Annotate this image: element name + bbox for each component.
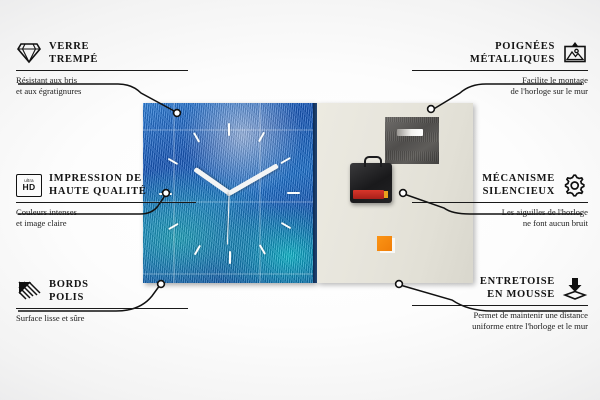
- battery: [353, 190, 384, 199]
- foam-spacer-icon: [562, 275, 588, 301]
- ultra-hd-icon: ultra HD: [16, 172, 42, 198]
- feature-title: BORDS POLIS: [49, 278, 89, 304]
- polished-edges-icon: [16, 278, 42, 304]
- picture-hanger-icon: [562, 40, 588, 66]
- feature-heading-row: ultra HD IMPRESSION DE HAUTE QUALITÉ: [16, 172, 196, 198]
- clock-hand: [226, 193, 229, 245]
- feature-desc: Résistant aux bris et aux égratignures: [16, 75, 188, 96]
- feature-title: IMPRESSION DE HAUTE QUALITÉ: [49, 172, 147, 198]
- feature-verre-trempe: VERRE TREMPÉ Résistant aux bris et aux é…: [16, 40, 188, 96]
- feature-poignees-metalliques: POIGNÉES MÉTALLIQUES Facilite le montage…: [412, 40, 588, 96]
- feature-desc: Surface lisse et sûre: [16, 313, 188, 324]
- mechanism-hook: [364, 156, 382, 167]
- feature-title: POIGNÉES MÉTALLIQUES: [470, 40, 555, 66]
- gear-icon: [562, 172, 588, 198]
- feature-heading-row: BORDS POLIS: [16, 278, 188, 304]
- feature-entretoise-mousse: ENTRETOISE EN MOUSSE Permet de maintenir…: [412, 275, 588, 331]
- clock-hand: [193, 167, 230, 195]
- feature-title: ENTRETOISE EN MOUSSE: [480, 275, 555, 301]
- clock-hand: [228, 163, 279, 195]
- divider: [16, 70, 188, 71]
- feature-desc: Permet de maintenir une distance uniform…: [412, 310, 588, 331]
- feature-bords-polis: BORDS POLIS Surface lisse et sûre: [16, 278, 188, 324]
- divider: [16, 202, 196, 203]
- foam-spacer: [377, 236, 392, 251]
- divider: [412, 70, 588, 71]
- divider: [412, 305, 588, 306]
- diamond-icon: [16, 40, 42, 66]
- feature-mecanisme-silencieux: MÉCANISME SILENCIEUX Les aiguilles de l'…: [412, 172, 588, 228]
- feature-heading-row: VERRE TREMPÉ: [16, 40, 188, 66]
- feature-desc: Couleurs intenses et image claire: [16, 207, 196, 228]
- feature-heading-row: MÉCANISME SILENCIEUX: [412, 172, 588, 198]
- metal-hanger-plate: [385, 117, 439, 164]
- divider: [16, 308, 188, 309]
- divider: [412, 202, 588, 203]
- feature-impression-hd: ultra HD IMPRESSION DE HAUTE QUALITÉ Cou…: [16, 172, 196, 228]
- infographic-canvas: VERRE TREMPÉ Résistant aux bris et aux é…: [0, 0, 600, 400]
- feature-desc: Les aiguilles de l'horloge ne font aucun…: [412, 207, 588, 228]
- clock-mechanism: [350, 163, 392, 203]
- feature-heading-row: ENTRETOISE EN MOUSSE: [412, 275, 588, 301]
- hanger-slot: [397, 129, 423, 136]
- feature-heading-row: POIGNÉES MÉTALLIQUES: [412, 40, 588, 66]
- feature-title: MÉCANISME SILENCIEUX: [482, 172, 555, 198]
- feature-desc: Facilite le montage de l'horloge sur le …: [412, 75, 588, 96]
- feature-title: VERRE TREMPÉ: [49, 40, 98, 66]
